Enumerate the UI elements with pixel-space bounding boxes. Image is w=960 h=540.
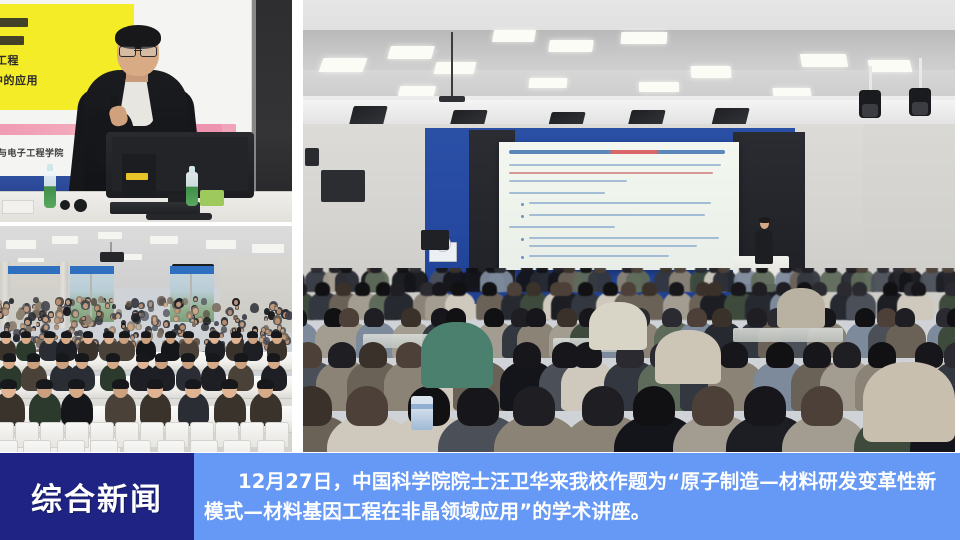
audience-member-head-back — [747, 308, 767, 327]
audience-member-hair — [271, 331, 282, 338]
audience-member-hair — [185, 379, 202, 389]
audience-member-hair — [21, 331, 32, 338]
stage-spotlight — [859, 90, 881, 118]
presenter-figure — [755, 218, 773, 264]
audience-member-head-back — [926, 268, 938, 273]
audience-member-hair — [231, 331, 242, 338]
travel-mug — [411, 396, 433, 430]
audience-member-head-back — [409, 268, 421, 273]
audience-member-head-back — [329, 268, 341, 273]
audience-member-head-back — [631, 268, 643, 273]
lecture-hall-seat — [57, 440, 85, 452]
audience-member-head-back — [695, 268, 707, 273]
audience-member-head-back — [803, 342, 831, 368]
audience-member-head-back — [364, 308, 384, 327]
audience-member-head-back — [945, 282, 955, 296]
audience-member-head-back — [526, 308, 546, 327]
spotlight-drop-rod — [919, 58, 922, 90]
audience-member-head-back — [578, 282, 593, 296]
audience-member-head-back — [557, 308, 577, 327]
stage-monitor — [421, 230, 449, 250]
audience-member-head-back — [837, 282, 852, 296]
audience-member-head-back — [718, 268, 730, 273]
audience-member-hair — [209, 331, 220, 338]
audience-member-head-back — [359, 342, 387, 368]
audience-member-head-back — [513, 342, 541, 368]
audience-member-hair — [119, 331, 130, 338]
audience-member-head-back — [947, 308, 955, 327]
audience-member-head-back — [339, 308, 359, 327]
slide-title-line — [509, 150, 725, 154]
desk-green-object — [200, 190, 224, 206]
audience-member-head-back — [396, 342, 424, 368]
audience-member-shoulders — [589, 302, 647, 350]
audience-member-head-back — [436, 268, 448, 273]
audience-member-hair — [56, 353, 70, 361]
audience-member-head-back — [877, 308, 897, 327]
audience-member-head-back — [739, 268, 751, 273]
audience-member-head-back — [707, 282, 722, 296]
lecture-hall-seat — [23, 440, 51, 452]
audience-member-head-back — [466, 268, 478, 273]
audience-member-head-back — [674, 268, 686, 273]
audience-member-head-back — [376, 282, 391, 296]
audience-member-head-back — [311, 268, 323, 273]
window-blue-band — [8, 266, 60, 274]
audience-member-hair — [181, 353, 195, 361]
audience-member-head-back — [766, 342, 794, 368]
audience-member-head-back — [942, 268, 954, 273]
lecture-hall-desk-row — [733, 328, 843, 342]
hall-audience-crowd — [303, 268, 955, 452]
wall-speaker-left — [305, 148, 319, 166]
audience-member-head-back — [397, 268, 409, 273]
lecture-hall-seat — [123, 440, 151, 452]
equipment-yellow-label — [126, 173, 148, 180]
audience-member-head-back — [526, 282, 541, 296]
audience-member-head-back — [904, 268, 916, 273]
audience-member-head-back — [370, 268, 382, 273]
audience-member-head-back — [692, 386, 734, 426]
audience-member-head-back — [513, 386, 555, 426]
audience-member-head-back — [687, 308, 707, 327]
audience-member-head-back — [482, 282, 497, 296]
audience-member-hair — [106, 353, 120, 361]
slide-text-line-1: 工程 — [0, 54, 19, 68]
audience-member-hair — [0, 379, 17, 389]
audience-member-hair — [112, 379, 129, 389]
audience-member-head-back — [752, 282, 767, 296]
desk-microphone — [74, 199, 87, 212]
audience-member-head-back — [833, 342, 861, 368]
audience-member-hair — [141, 331, 152, 338]
water-bottle — [186, 172, 198, 206]
photo-speaker-at-podium: 工程 中的应用 与电子工程学院 — [0, 0, 292, 222]
window-blue-band — [70, 266, 114, 274]
audience-member-hair — [257, 379, 274, 389]
audience-member-hair — [206, 353, 220, 361]
audience-member-hair — [44, 331, 55, 338]
audience-member-hair — [3, 353, 17, 361]
audience-member-head-back — [451, 282, 466, 296]
ceiling-boom-mic-stem — [451, 32, 453, 98]
news-category-label: 综合新闻 — [31, 474, 163, 519]
audience-member-head-back — [660, 268, 672, 273]
audience-member-hair — [221, 379, 238, 389]
slide-text-line-2: 中的应用 — [0, 74, 38, 88]
audience-member-hair — [75, 353, 89, 361]
photo-lecture-hall-wide — [303, 0, 955, 452]
audience-member-head-back — [642, 282, 657, 296]
slide-text-line-3: 与电子工程学院 — [0, 146, 64, 159]
audience-member-head-back — [669, 282, 684, 296]
audience-member-hair — [136, 353, 150, 361]
audience-member-head-back — [712, 308, 732, 327]
audience-member-head-back — [825, 268, 837, 273]
audience-member-hair — [68, 379, 85, 389]
audience-member-head-back — [315, 282, 330, 296]
audience-member-shoulders — [863, 362, 955, 442]
audience-member-head-back — [895, 308, 915, 327]
audience-member-head-back — [603, 282, 618, 296]
wall-display-left — [321, 170, 365, 202]
audience-member-hair — [27, 353, 41, 361]
audience-member-head-back — [883, 282, 898, 296]
news-caption-panel: 12月27日，中国科学院院士汪卫华来我校作题为“原子制造—材料研发变革性新模式—… — [194, 453, 960, 540]
audience-member-head-back — [563, 268, 575, 273]
audience-member-head-back — [756, 268, 768, 273]
audience-member-head-back — [911, 282, 926, 296]
audience-member-head-back — [457, 386, 499, 426]
audience-member-head-back — [780, 268, 792, 273]
audience-member-head-back — [801, 386, 843, 426]
monitor-base — [146, 213, 212, 220]
audience-member-head-back — [852, 282, 867, 296]
wall-dark-panel — [256, 0, 292, 222]
audience-member-hair — [61, 331, 72, 338]
audience-member-hair — [267, 353, 281, 361]
audience-member-head-back — [855, 308, 875, 327]
speaker-glasses — [119, 46, 157, 55]
lecture-hall-seat — [157, 440, 185, 452]
ceiling-boom-mic-base — [439, 96, 465, 102]
audience-member-hair — [147, 379, 164, 389]
audience-member-head-back — [494, 268, 506, 273]
audience-member-shoulders — [777, 288, 825, 328]
news-caption-text: 12月27日，中国科学院院士汪卫华来我校作题为“原子制造—材料研发变革性新模式—… — [204, 467, 954, 527]
audience-member-head-back — [507, 282, 522, 296]
water-bottle — [44, 170, 56, 208]
audience-member-head-back — [594, 268, 606, 273]
audience-member-shoulders — [421, 322, 493, 388]
audience-member-head-back — [744, 386, 786, 426]
news-caption-bar: 综合新闻 12月27日，中国科学院院士汪卫华来我校作题为“原子制造—材料研发变革… — [0, 453, 960, 540]
audience-member-head-back — [856, 268, 868, 273]
audience-member-head-back — [346, 386, 388, 426]
audience-member-head-back — [621, 282, 636, 296]
audience-member-head-back — [390, 282, 405, 296]
window-blue-band — [170, 266, 214, 274]
audience-member-hair — [83, 331, 94, 338]
audience-member-hair — [103, 331, 114, 338]
lecture-hall-seat — [223, 440, 251, 452]
audience-member-head-back — [877, 268, 889, 273]
audience-member-shoulders — [655, 330, 721, 384]
audience-member-head-back — [355, 282, 370, 296]
audience-member-head-back — [484, 308, 504, 327]
audience-member-head-back — [662, 308, 682, 327]
audience-member-head-back — [731, 282, 746, 296]
news-collage-page: 工程 中的应用 与电子工程学院 — [0, 0, 960, 540]
audience-member-hair — [36, 379, 53, 389]
lecture-hall-seat — [190, 440, 218, 452]
audience-member-head-back — [521, 268, 533, 273]
audience-member-head-back — [557, 282, 572, 296]
audience-member-head-back — [432, 282, 447, 296]
lecture-hall-seat — [0, 440, 18, 452]
audience-member-hair — [155, 353, 169, 361]
audience-member — [0, 392, 25, 426]
audience-member-head-back — [536, 268, 548, 273]
audience-member-hair — [234, 353, 248, 361]
audience-member-hair — [165, 331, 176, 338]
lecture-hall-seat — [257, 440, 285, 452]
audience-member-head-back — [720, 342, 748, 368]
desk-papers — [2, 200, 34, 214]
desk-microphone — [60, 200, 70, 210]
audience-member-head-back — [449, 268, 461, 273]
lecture-hall-seat — [90, 440, 118, 452]
audience-member-head-back — [580, 268, 592, 273]
audience-member-hair — [0, 331, 11, 338]
stage-spotlight — [909, 88, 931, 116]
audience-member-head-back — [802, 268, 814, 273]
audience-member-hair — [183, 331, 194, 338]
ceiling-projector — [100, 252, 124, 262]
audience-member-head-back — [328, 342, 356, 368]
news-category-badge[interactable]: 综合新闻 — [0, 453, 194, 540]
audience-member-head-back — [633, 386, 675, 426]
audience-member-head-back — [401, 308, 421, 327]
audience-member-head-back — [336, 282, 351, 296]
photo-audience-seated — [0, 226, 292, 452]
audience-member-head-back — [340, 268, 352, 273]
projection-screen-main — [499, 142, 739, 270]
audience-member-hair — [247, 331, 258, 338]
audience-member-head-back — [582, 386, 624, 426]
